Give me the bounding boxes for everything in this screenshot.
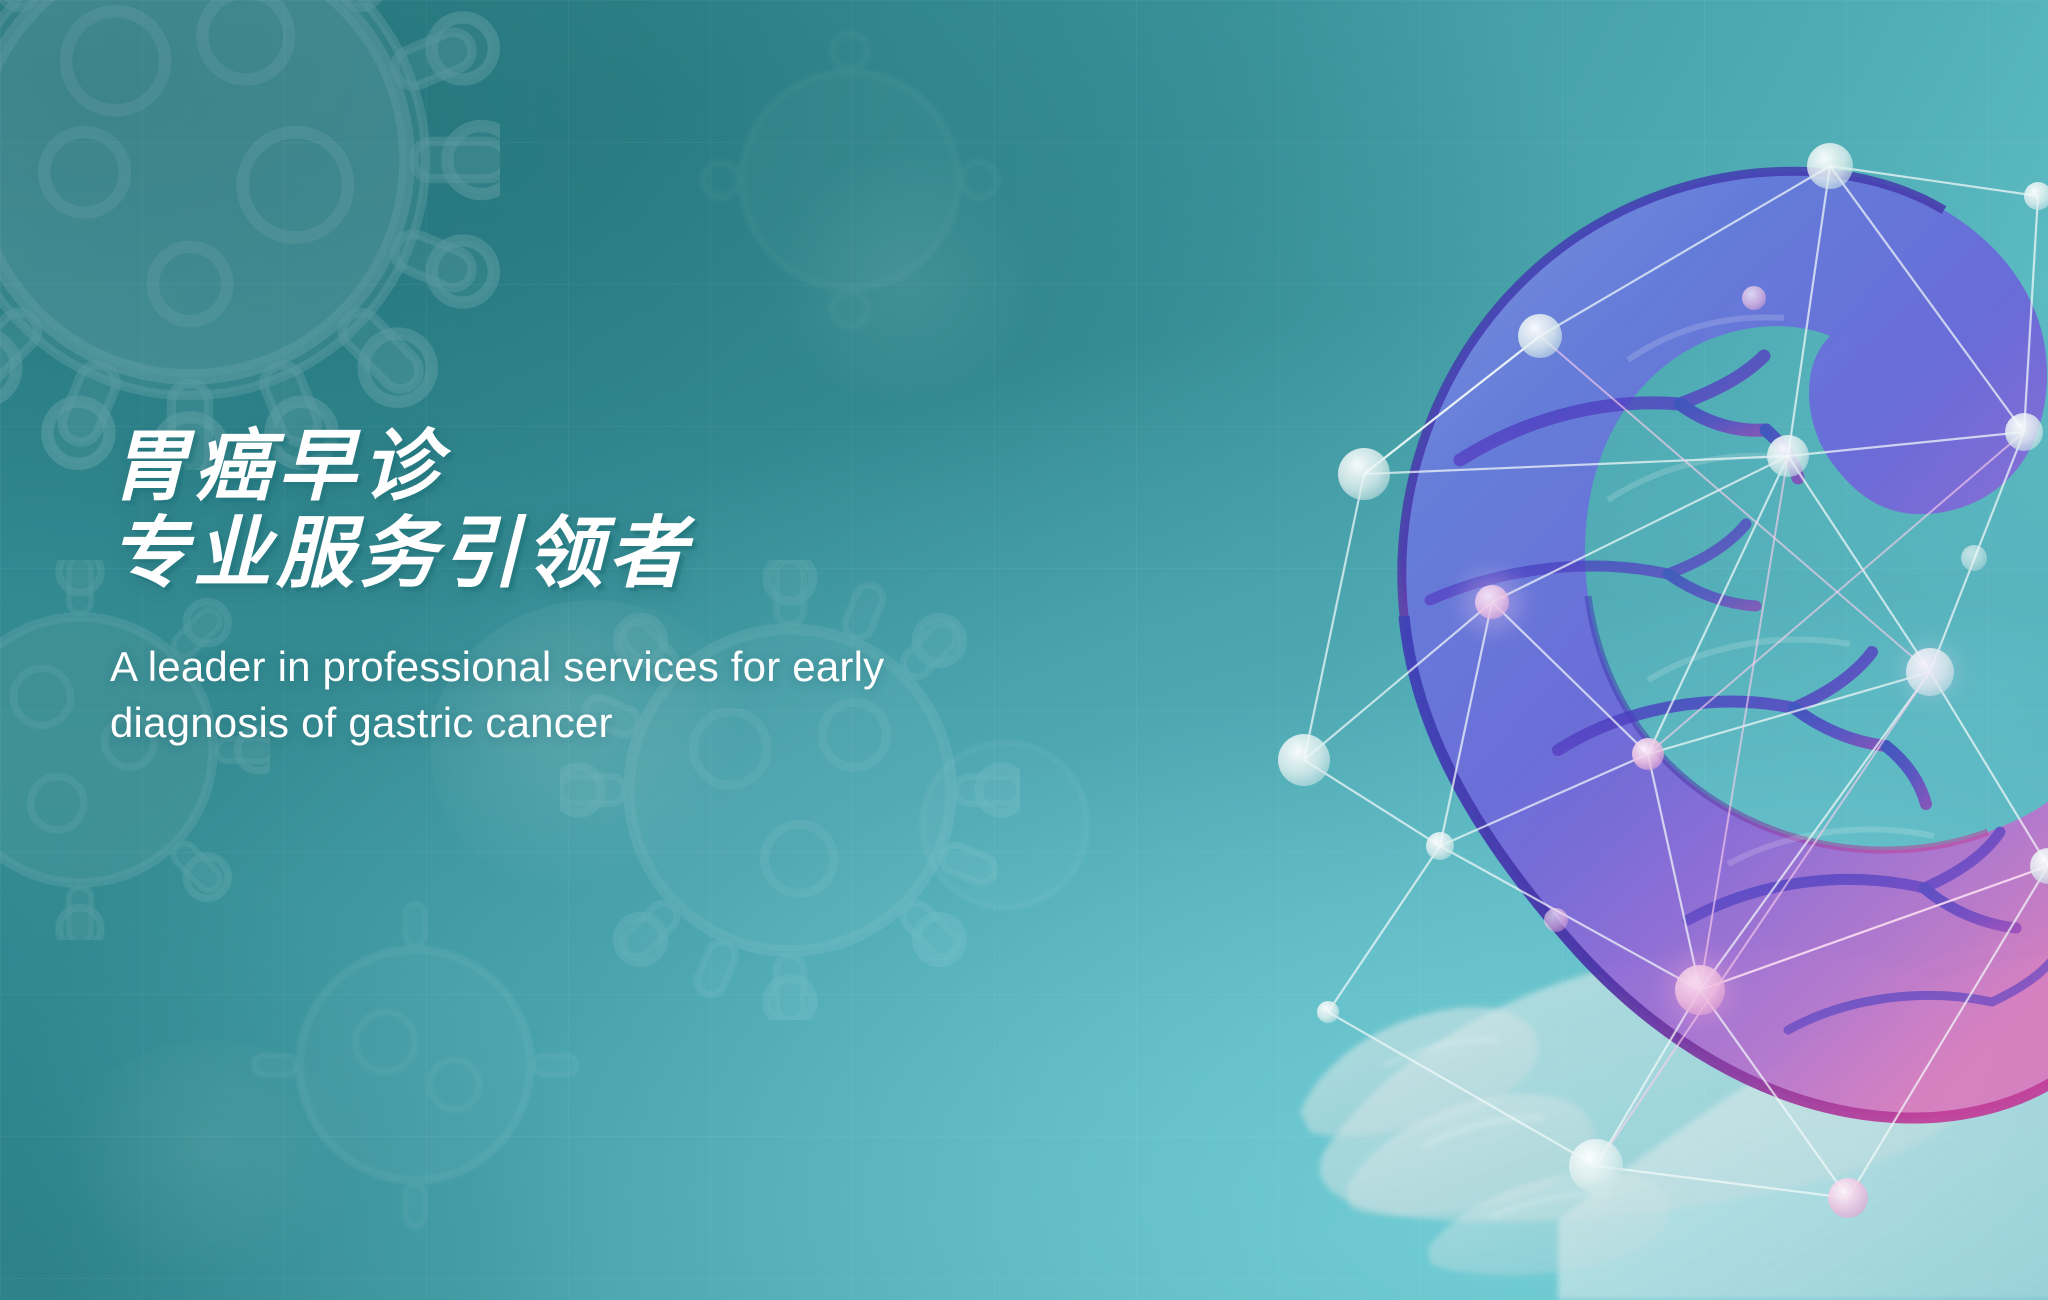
headline-line-1: 胃癌早诊 [110,424,1130,511]
banner-stage: 胃癌早诊 专业服务引领者 A leader in professional se… [0,0,2048,1300]
page-title: 胃癌早诊 专业服务引领者 [110,424,1130,599]
subtitle-line-1: A leader in professional services for ea… [110,639,1110,695]
page-subtitle: A leader in professional services for ea… [110,639,1110,752]
headline-line-2: 专业服务引领者 [110,511,1130,598]
hero-text-block: 胃癌早诊 专业服务引领者 A leader in professional se… [110,424,1130,751]
subtitle-line-2: diagnosis of gastric cancer [110,695,1110,751]
